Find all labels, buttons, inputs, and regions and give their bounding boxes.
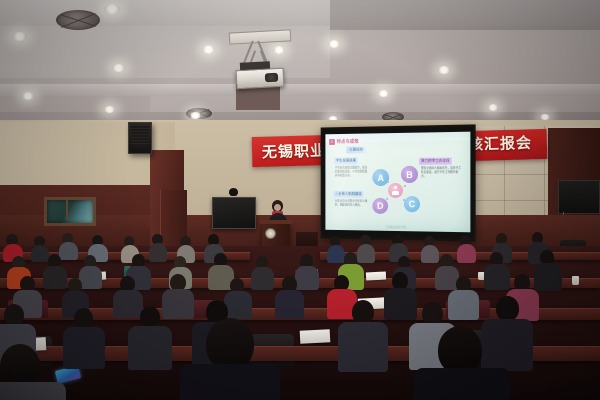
- ceiling-downlight: [273, 46, 285, 54]
- ceiling-downlight: [22, 92, 34, 100]
- slide-box-right: 努力的学工办主任: [419, 157, 452, 164]
- slide-body-left-1: 学生综合素质全面提升，就业质量持续改善，人才培养质量获得社会认可。: [335, 166, 368, 178]
- paper-handout: [366, 271, 386, 280]
- flat-screen-monitor: [558, 180, 600, 214]
- slide-number: 2: [329, 139, 335, 145]
- window-divider: [66, 197, 68, 220]
- slide-body-right: 聚焦立德树人根本任务，深化学工队伍建设，提升学生工作服务能力。: [421, 167, 462, 179]
- ceiling-downlight: [202, 45, 215, 54]
- slide-circle-b: B: [401, 166, 418, 183]
- ceiling-downlight: [328, 40, 340, 48]
- slide-subtitle: 主要成效: [346, 146, 366, 153]
- ceiling-downlight: [104, 106, 115, 113]
- ceiling-downlight: [112, 64, 125, 72]
- slide-box-bottom-left: 三全育人机制建设: [333, 191, 364, 198]
- projector-lens: [265, 73, 278, 83]
- podium-top: [260, 220, 292, 224]
- person-icon: [388, 183, 403, 198]
- slide-box-top-left: 学生发展成果: [334, 157, 358, 164]
- ceiling: [0, 0, 600, 132]
- ceiling-downlight: [104, 4, 120, 14]
- wall-speaker: [128, 122, 152, 154]
- ceiling-air-vent: [56, 10, 100, 30]
- paper-handout: [300, 329, 331, 344]
- ceiling-downlight: [438, 66, 450, 74]
- slide-body-left-2: 完善全员全过程全方位育人体制，构建协同育人格局。: [335, 200, 368, 208]
- projected-slide: 2 特点与成效 主要成效 学生发展成果 学生综合素质全面提升，就业质量持续改善，…: [325, 132, 470, 233]
- ceiling-downlight: [488, 104, 498, 111]
- camera-icon: [229, 188, 238, 196]
- paper-cup: [572, 276, 579, 285]
- slide-footer: 无锡职业技术学院: [325, 224, 470, 230]
- flat-screen-monitor: [212, 197, 256, 229]
- control-room-window: [44, 197, 96, 226]
- slide-title: 特点与成效: [337, 139, 359, 145]
- ceiling-downlight: [190, 112, 201, 119]
- conference-hall-photo: 无锡职业技术 考核汇报会 2 特点与成效 主要成效 学生发展成果 学生综合素质全…: [0, 0, 600, 400]
- slide-circle-d: D: [372, 198, 388, 214]
- ceiling-downlight: [378, 90, 389, 97]
- ceiling-downlight: [12, 32, 27, 41]
- slide-circle-c: C: [404, 196, 420, 212]
- presenter-face: [274, 204, 281, 211]
- slide-circle-a: A: [372, 169, 389, 186]
- school-crest-emblem: [265, 228, 276, 239]
- projection-screen: 2 特点与成效 主要成效 学生发展成果 学生综合素质全面提升，就业质量持续改善，…: [321, 124, 476, 241]
